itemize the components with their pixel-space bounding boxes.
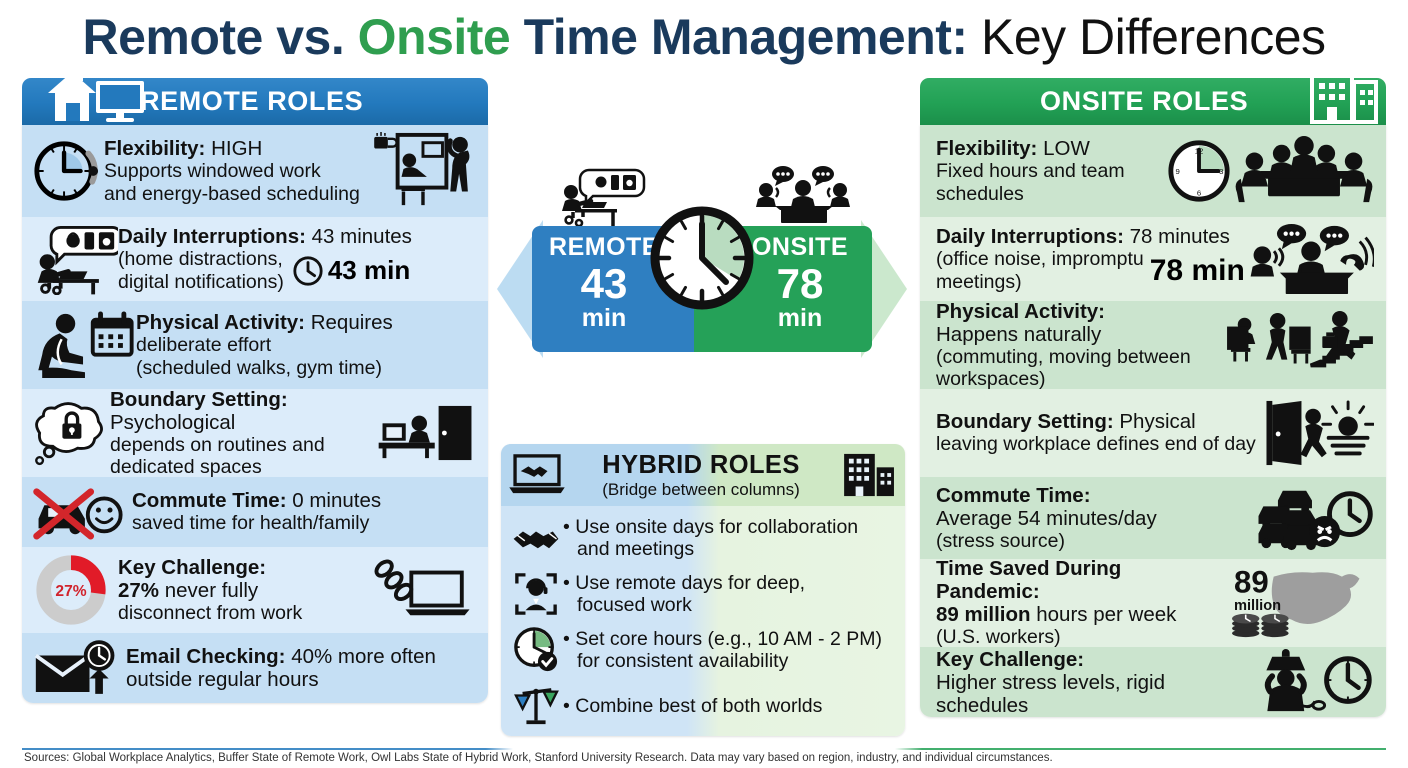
- remote-interruptions-detail-2: digital notifications): [118, 271, 284, 294]
- focus-headset-person-icon: [509, 572, 563, 616]
- remote-worker-notifications-icon: [557, 168, 647, 230]
- coffee-window-worker-stretch-icon: [368, 131, 478, 211]
- office-building-icon: [1308, 62, 1380, 126]
- title-part-onsite: Onsite: [358, 9, 511, 65]
- onsite-column-title: ONSITE ROLES: [1040, 86, 1248, 117]
- remote-vs-onsite-comparison: REMOTE 43 min ONSITE 78 min: [495, 160, 909, 414]
- hybrid-item-2: • Use remote days for deep, focused work: [501, 566, 905, 622]
- onsite-interruptions-label: Daily Interruptions:: [936, 225, 1124, 248]
- balance-scale-icon: [509, 684, 563, 728]
- chain-laptop-icon: [368, 557, 478, 623]
- onsite-stat-small: million: [1234, 598, 1281, 614]
- hybrid-item-3-line-1: Set core hours (e.g., 10 AM - 2 PM): [575, 628, 882, 650]
- remote-interruptions-label: Daily Interruptions:: [118, 225, 306, 248]
- envelope-clock-icon: [32, 638, 126, 698]
- remote-interruptions-value: 43 minutes: [312, 225, 412, 248]
- hybrid-subtitle: (Bridge between columns): [567, 480, 835, 500]
- title-part-remote: Remote vs.: [82, 9, 357, 65]
- onsite-rows: Flexibility: LOW Fixed hours and team sc…: [920, 125, 1386, 717]
- remote-boundary-detail-1: depends on routines and: [110, 434, 378, 457]
- onsite-flexibility-text: Flexibility: LOW Fixed hours and team sc…: [930, 137, 1166, 205]
- svg-text:9: 9: [1175, 167, 1179, 176]
- footer-divider: [22, 748, 1386, 750]
- hybrid-item-3-text: • Set core hours (e.g., 10 AM - 2 PM) fo…: [563, 628, 897, 672]
- car-crossed-out-smiley-icon: [32, 484, 132, 540]
- analog-clock-icon: [650, 206, 754, 310]
- remote-column-title: REMOTE ROLES: [140, 86, 363, 117]
- onsite-boundary-value: Physical: [1119, 410, 1195, 433]
- onsite-row-key-challenge: Key Challenge: Higher stress levels, rig…: [920, 647, 1386, 717]
- onsite-boundary-text: Boundary Setting: Physical leaving workp…: [930, 410, 1260, 456]
- remote-physical-detail-2: (scheduled walks, gym time): [136, 357, 478, 380]
- title-part-key: Key Differences: [981, 9, 1326, 65]
- remote-commute-label: Commute Time:: [132, 489, 287, 512]
- clock-icon: [32, 137, 104, 205]
- walking-desks-stairs-icon: [1224, 311, 1376, 381]
- remote-row-flexibility: Flexibility: HIGH Supports windowed work…: [22, 125, 488, 217]
- title-part-time: Time Management:: [510, 9, 981, 65]
- remote-flexibility-label: Flexibility:: [104, 137, 205, 160]
- remote-flexibility-value: HIGH: [211, 137, 262, 160]
- center-comparison-area: REMOTE 43 min ONSITE 78 min: [495, 78, 909, 744]
- onsite-physical-label: Physical Activity:: [936, 300, 1105, 323]
- hybrid-title: HYBRID ROLES: [567, 451, 835, 480]
- onsite-flexibility-label: Flexibility:: [936, 137, 1037, 160]
- onsite-column-header: ONSITE ROLES: [920, 78, 1386, 125]
- hybrid-item-2-line-1: Use remote days for deep,: [575, 572, 805, 594]
- onsite-interruptions-badge: 78 min: [1150, 254, 1245, 288]
- onsite-time-saved-label: Time Saved During Pandemic:: [936, 557, 1121, 603]
- hybrid-item-3: • Set core hours (e.g., 10 AM - 2 PM) fo…: [501, 622, 905, 678]
- office-building-icon: [835, 452, 905, 498]
- onsite-commute-label: Commute Time:: [936, 484, 1091, 507]
- onsite-time-saved-detail-2: (U.S. workers): [936, 626, 1228, 649]
- handshake-icon: [509, 524, 563, 552]
- remote-boundary-text: Boundary Setting: Psychological depends …: [110, 388, 378, 479]
- onsite-physical-text: Physical Activity: Happens naturally (co…: [930, 300, 1224, 391]
- clock-face-icon: 12 3 6 9: [1166, 138, 1234, 204]
- remote-row-interruptions: Daily Interruptions: 43 minutes (home di…: [22, 217, 488, 301]
- onsite-physical-detail-1: Happens naturally: [936, 323, 1224, 346]
- hybrid-item-1: • Use onsite days for collaboration and …: [501, 510, 905, 566]
- remote-rows: Flexibility: HIGH Supports windowed work…: [22, 125, 488, 703]
- remote-key-challenge-text: Key Challenge: 27% never fully disconnec…: [118, 556, 368, 625]
- remote-physical-activity-text: Physical Activity: Requires deliberate e…: [136, 311, 478, 379]
- remote-commute-text: Commute Time: 0 minutes saved time for h…: [132, 489, 478, 535]
- remote-boundary-label: Boundary Setting:: [110, 388, 288, 411]
- door-exit-sunset-icon: [1260, 399, 1376, 467]
- remote-commute-value: 0 minutes: [292, 489, 381, 512]
- onsite-time-saved-bold: 89 million: [936, 603, 1031, 626]
- remote-challenge-stat: 27%: [118, 579, 159, 602]
- hybrid-item-4: • Combine best of both worlds: [501, 678, 905, 734]
- hybrid-item-4-line-1: Combine best of both worlds: [575, 695, 822, 717]
- remote-row-email: Email Checking: 40% more often outside r…: [22, 633, 488, 703]
- remote-boundary-detail-2: dedicated spaces: [110, 456, 378, 479]
- donut-percent-label: 27%: [55, 583, 86, 600]
- onsite-commute-detail-2: (stress source): [936, 530, 1248, 553]
- home-desk-door-icon: [378, 404, 478, 462]
- onsite-challenge-label: Key Challenge:: [936, 648, 1084, 671]
- hybrid-panel-header: HYBRID ROLES (Bridge between columns): [501, 444, 905, 506]
- remote-column-header: REMOTE ROLES: [22, 78, 488, 125]
- hybrid-roles-panel: HYBRID ROLES (Bridge between columns): [501, 444, 905, 736]
- remote-flexibility-text: Flexibility: HIGH Supports windowed work…: [104, 137, 368, 205]
- hybrid-title-block: HYBRID ROLES (Bridge between columns): [567, 451, 835, 500]
- home-monitor-icon: [44, 63, 148, 125]
- hybrid-item-1-text: • Use onsite days for collaboration and …: [563, 516, 897, 560]
- remote-email-text: Email Checking: 40% more often outside r…: [126, 645, 478, 691]
- remote-row-physical-activity: Physical Activity: Requires deliberate e…: [22, 301, 488, 389]
- onsite-commute-text: Commute Time: Average 54 minutes/day (st…: [930, 484, 1248, 553]
- usa-map-coins-icon: 89 million: [1228, 563, 1376, 643]
- laptop-handshake-icon: [501, 454, 573, 496]
- remote-challenge-label: Key Challenge:: [118, 556, 266, 579]
- remote-interruptions-detail-1: (home distractions,: [118, 248, 284, 271]
- onsite-boundary-detail-1: leaving workplace defines end of day: [936, 433, 1260, 456]
- onsite-stat-big: 89: [1234, 564, 1269, 599]
- remote-physical-value: Requires: [311, 311, 393, 334]
- donut-chart-27-icon: 27%: [32, 551, 118, 629]
- onsite-boundary-label: Boundary Setting:: [936, 410, 1114, 433]
- remote-physical-label: Physical Activity:: [136, 311, 305, 334]
- remote-row-key-challenge: 27% Key Challenge: 27% never fully disco…: [22, 547, 488, 633]
- remote-physical-detail-1: deliberate effort: [136, 334, 478, 357]
- hybrid-item-4-text: • Combine best of both worlds: [563, 695, 897, 717]
- clock-check-icon: [509, 627, 563, 673]
- meeting-table-people-icon: [1234, 136, 1376, 206]
- remote-flexibility-detail-1: Supports windowed work: [104, 160, 368, 183]
- onsite-time-saved-text: Time Saved During Pandemic: 89 million h…: [930, 557, 1228, 649]
- svg-text:12: 12: [1195, 147, 1204, 156]
- onsite-flexibility-detail-1: Fixed hours and team: [936, 160, 1166, 183]
- person-tying-shoes-calendar-icon: [32, 310, 136, 380]
- onsite-interruptions-text: Daily Interruptions: 78 minutes (office …: [930, 225, 1250, 293]
- hybrid-item-2-text: • Use remote days for deep, focused work: [563, 572, 897, 616]
- onsite-interruptions-detail-2: meetings): [936, 271, 1144, 294]
- hybrid-item-2-line-2: focused work: [563, 594, 897, 616]
- onsite-row-interruptions: Daily Interruptions: 78 minutes (office …: [920, 217, 1386, 301]
- office-meeting-chatter-icon: [755, 164, 851, 226]
- onsite-physical-detail-2: (commuting, moving between workspaces): [936, 346, 1224, 391]
- remote-roles-column: REMOTE ROLES Flexibility:: [22, 78, 488, 703]
- hybrid-items-list: • Use onsite days for collaboration and …: [501, 506, 905, 734]
- svg-text:6: 6: [1197, 188, 1201, 197]
- remote-interruptions-badge: 43 min: [328, 255, 410, 286]
- clock-outline-icon: [292, 255, 324, 287]
- remote-interruptions-text: Daily Interruptions: 43 minutes (home di…: [118, 225, 478, 293]
- sources-footer: Sources: Global Workplace Analytics, Buf…: [24, 752, 1384, 764]
- remote-challenge-detail-2: disconnect from work: [118, 602, 368, 625]
- onsite-key-challenge-text: Key Challenge: Higher stress levels, rig…: [930, 648, 1250, 717]
- onsite-row-flexibility: Flexibility: LOW Fixed hours and team sc…: [920, 125, 1386, 217]
- onsite-flexibility-value: LOW: [1043, 137, 1090, 160]
- hybrid-item-1-line-2: and meetings: [563, 538, 897, 560]
- hybrid-item-1-line-1: Use onsite days for collaboration: [575, 516, 858, 538]
- remote-row-commute: Commute Time: 0 minutes saved time for h…: [22, 477, 488, 547]
- page-title: Remote vs. Onsite Time Management: Key D…: [0, 6, 1408, 72]
- remote-row-boundary: Boundary Setting: Psychological depends …: [22, 389, 488, 477]
- onsite-interruptions-detail-1: (office noise, impromptu: [936, 248, 1144, 271]
- onsite-row-boundary: Boundary Setting: Physical leaving workp…: [920, 389, 1386, 477]
- stressed-person-weight-clock-icon: [1250, 649, 1376, 715]
- onsite-flexibility-detail-2: schedules: [936, 183, 1166, 206]
- remote-email-value: 40% more often: [291, 645, 436, 668]
- hybrid-item-3-line-2: for consistent availability: [563, 650, 897, 672]
- onsite-row-physical-activity: Physical Activity: Happens naturally (co…: [920, 301, 1386, 389]
- onsite-roles-column: ONSITE ROLES Flexibility: LOW: [920, 78, 1386, 717]
- onsite-challenge-detail-1: Higher stress levels, rigid schedules: [936, 671, 1250, 717]
- remote-commute-detail-1: saved time for health/family: [132, 512, 478, 535]
- person-desk-distractions-icon: [32, 223, 118, 295]
- thought-bubble-lock-icon: [32, 398, 110, 468]
- office-chatter-phone-icon: [1250, 222, 1376, 296]
- onsite-interruptions-value: 78 minutes: [1130, 225, 1230, 248]
- onsite-row-commute: Commute Time: Average 54 minutes/day (st…: [920, 477, 1386, 559]
- remote-email-detail-1: outside regular hours: [126, 668, 478, 691]
- onsite-commute-detail-1: Average 54 minutes/day: [936, 507, 1248, 530]
- remote-flexibility-detail-2: and energy-based scheduling: [104, 183, 368, 206]
- onsite-row-time-saved: Time Saved During Pandemic: 89 million h…: [920, 559, 1386, 647]
- remote-email-label: Email Checking:: [126, 645, 286, 668]
- traffic-jam-angry-clock-icon: [1248, 483, 1376, 553]
- remote-boundary-value: Psychological: [110, 411, 235, 434]
- remote-challenge-detail-1: never fully: [165, 579, 258, 602]
- svg-text:3: 3: [1219, 167, 1223, 176]
